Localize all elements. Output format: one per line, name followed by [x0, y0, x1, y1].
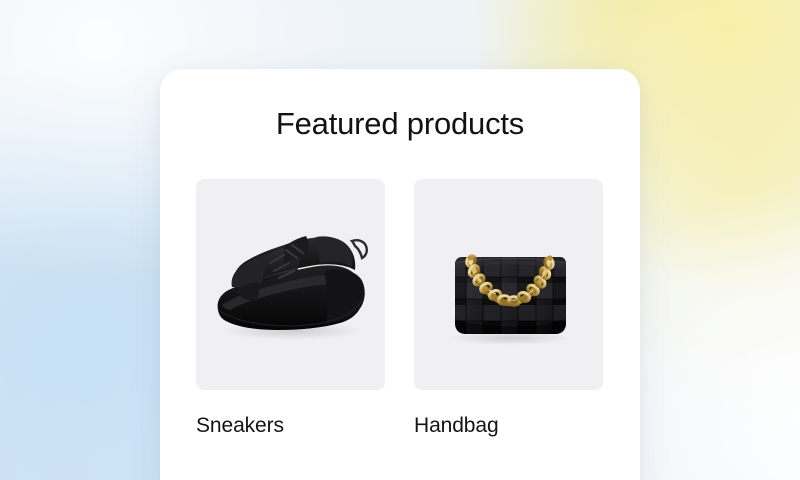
featured-products-card: Featured products — [160, 69, 640, 480]
page-title: Featured products — [160, 108, 640, 139]
page-root: Featured products — [0, 0, 800, 480]
product-grid: Sneakers — [196, 179, 604, 436]
product-thumbnail-sneakers[interactable] — [196, 179, 385, 390]
product-thumbnail-handbag[interactable] — [414, 179, 603, 390]
handbag-icon — [414, 179, 603, 390]
product-label-handbag: Handbag — [414, 415, 603, 436]
product-label-sneakers: Sneakers — [196, 415, 385, 436]
sneaker-icon — [196, 179, 385, 390]
product-card-handbag[interactable]: Handbag — [414, 179, 603, 436]
product-card-sneakers[interactable]: Sneakers — [196, 179, 385, 436]
